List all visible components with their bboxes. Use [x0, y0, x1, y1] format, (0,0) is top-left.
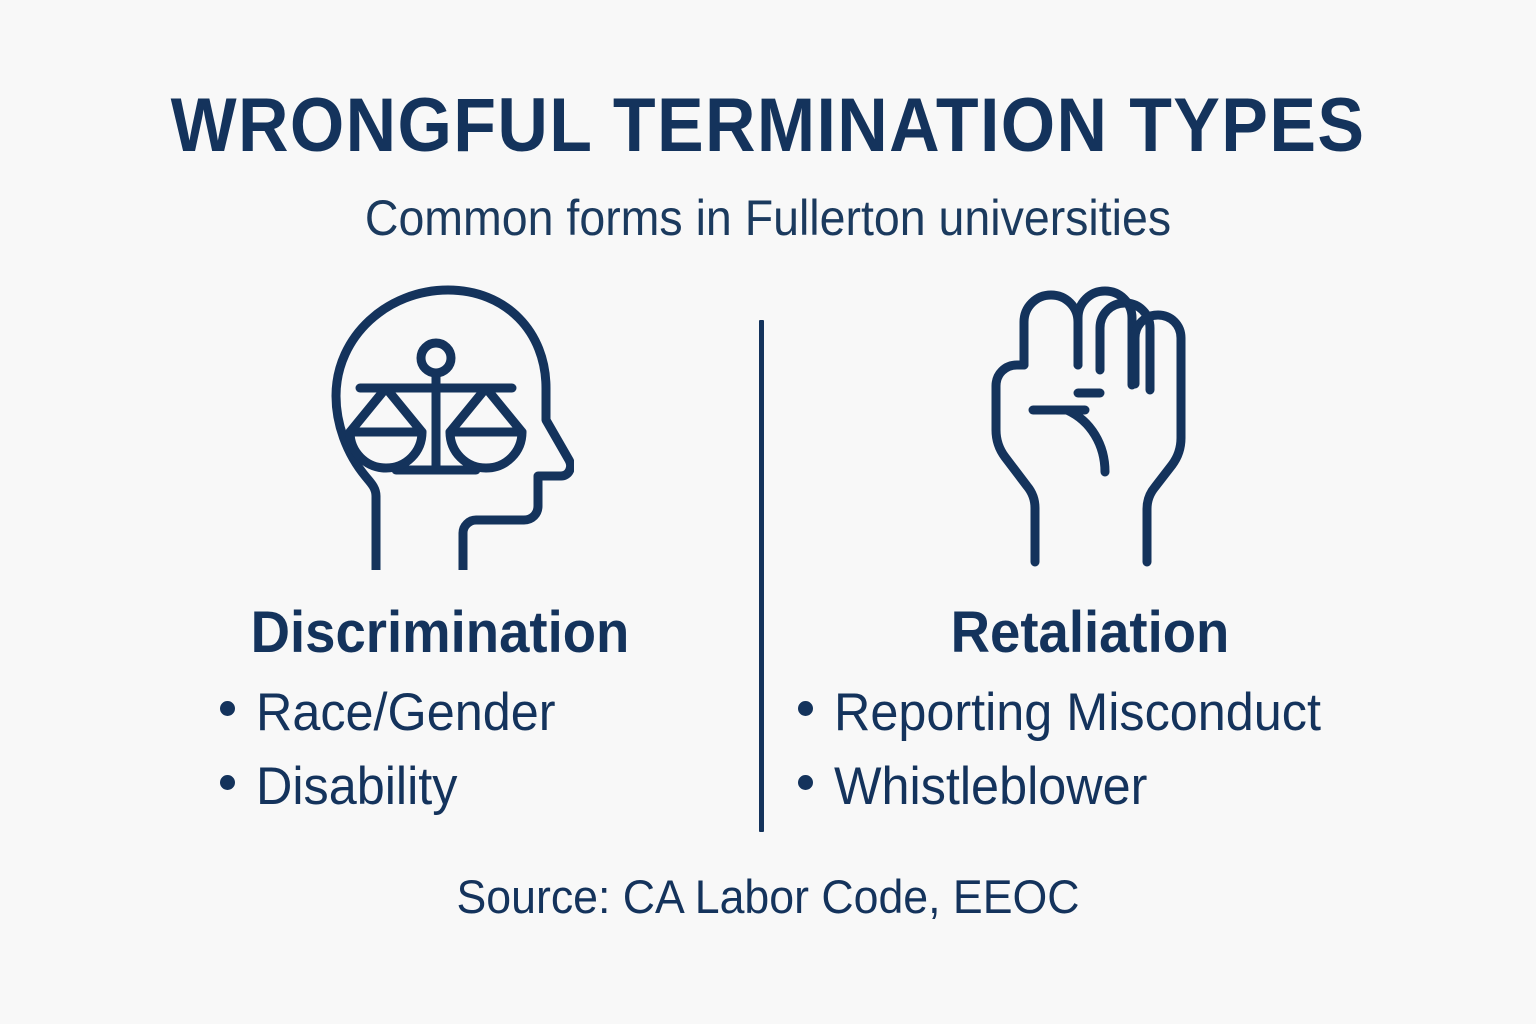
bullet-dot-icon — [798, 775, 813, 790]
raised-fist-icon — [790, 280, 1390, 580]
list-item: Whistleblower — [798, 750, 1390, 824]
list-item: Reporting Misconduct — [798, 676, 1390, 750]
bullet-dot-icon — [220, 775, 235, 790]
list-item-label: Whistleblower — [834, 750, 1147, 824]
list-item-label: Disability — [256, 750, 457, 824]
column-heading-discrimination: Discrimination — [167, 602, 712, 664]
list-item-label: Reporting Misconduct — [834, 676, 1321, 750]
bullet-list-discrimination: Race/Gender Disability — [150, 676, 730, 824]
page-subtitle: Common forms in Fullerton universities — [54, 190, 1482, 246]
source-attribution: Source: CA Labor Code, EEOC — [38, 870, 1497, 924]
column-divider — [759, 320, 764, 832]
column-heading-retaliation: Retaliation — [808, 602, 1372, 664]
list-item-label: Race/Gender — [256, 676, 555, 750]
column-retaliation: Retaliation Reporting Misconduct Whistle… — [790, 280, 1390, 824]
infographic-canvas: WRONGFUL TERMINATION TYPES Common forms … — [0, 0, 1536, 1024]
bullet-dot-icon — [220, 701, 235, 716]
bullet-dot-icon — [798, 701, 813, 716]
head-with-justice-scale-icon — [150, 280, 730, 580]
list-item: Race/Gender — [220, 676, 730, 750]
list-item: Disability — [220, 750, 730, 824]
page-title: WRONGFUL TERMINATION TYPES — [61, 86, 1474, 166]
bullet-list-retaliation: Reporting Misconduct Whistleblower — [790, 676, 1390, 824]
column-discrimination: Discrimination Race/Gender Disability — [150, 280, 730, 824]
